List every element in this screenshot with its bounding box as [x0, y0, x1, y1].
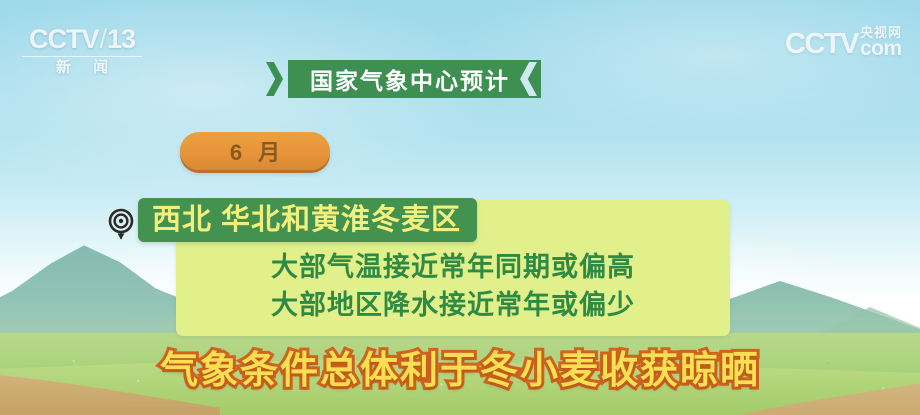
- bottom-headline: 气象条件总体利于冬小麦收获晾晒: [0, 348, 920, 396]
- cctv13-slash: /: [99, 26, 106, 53]
- cctv13-divider: [22, 56, 142, 57]
- region-detail-line: 大部地区降水接近常年或偏少: [176, 286, 730, 324]
- region-detail-line: 大部气温接近常年同期或偏高: [176, 248, 730, 286]
- cctv13-number: 13: [107, 26, 135, 53]
- cctv-com-brand: CCTV: [785, 31, 858, 59]
- location-pin-icon: [107, 208, 135, 244]
- chevron-right-icon: [266, 62, 283, 96]
- header-banner: 国家气象中心预计: [266, 60, 537, 98]
- month-badge-label: 6 月: [225, 135, 285, 167]
- region-title: 西北 华北和黄淮冬麦区: [152, 206, 461, 235]
- cctv-wordmark: CCTV: [29, 26, 99, 53]
- cctv-com-watermark: CCTV 央视网 com: [785, 26, 902, 59]
- cctv13-subtitle: 新 闻: [16, 59, 148, 77]
- cctv13-channel-logo: CCTV / 13 新 闻: [16, 26, 148, 77]
- cctv-com-text-group: 央视网 com: [860, 26, 902, 59]
- broadcast-graphic-screen: CCTV / 13 新 闻 CCTV 央视网 com 国家气象中心预计 6 月 …: [0, 0, 920, 415]
- region-detail-list: 大部气温接近常年同期或偏高 大部地区降水接近常年或偏少: [176, 248, 730, 324]
- region-title-bar: 西北 华北和黄淮冬麦区: [138, 198, 477, 242]
- page-title: 国家气象中心预计: [310, 62, 510, 96]
- header-banner-plate: 国家气象中心预计: [288, 60, 536, 98]
- cctv13-logo-row: CCTV / 13: [16, 26, 148, 53]
- cctv-com-domain: com: [860, 38, 902, 59]
- bottom-headline-text: 气象条件总体利于冬小麦收获晾晒: [160, 348, 760, 396]
- month-badge: 6 月: [180, 132, 330, 170]
